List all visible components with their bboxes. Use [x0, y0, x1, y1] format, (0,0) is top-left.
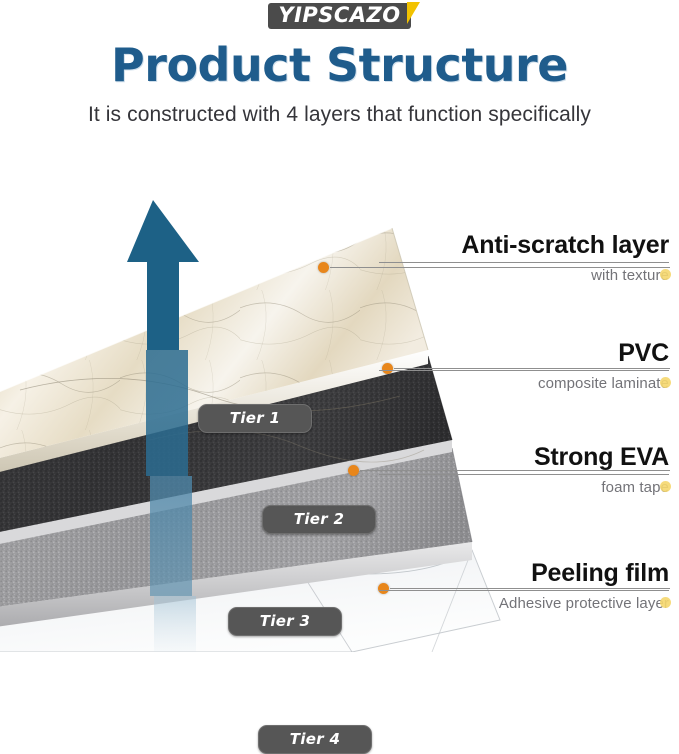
layer-title-4: Peeling film [379, 560, 669, 589]
layer-divider-1 [379, 262, 669, 263]
tier-badge-2[interactable]: Tier 2 [262, 505, 376, 534]
page-subtitle: It is constructed with 4 layers that fun… [0, 103, 679, 127]
layer-title-3: Strong EVA [379, 444, 669, 473]
tier-badge-1[interactable]: Tier 1 [198, 404, 312, 433]
layer-subtitle-3: foam tape [601, 479, 669, 496]
layer-divider-4 [379, 590, 669, 591]
logo-text: YIPSCAZO [278, 5, 400, 26]
layer-label-2: PVC composite laminate [379, 340, 669, 393]
connector-dot-3 [348, 465, 359, 476]
brand-logo: YIPSCAZO [0, 3, 679, 29]
layer-subtitle-2: composite laminate [538, 375, 669, 392]
header: YIPSCAZO Product Structure It is constru… [0, 0, 679, 140]
connector-dot-1 [318, 262, 329, 273]
logo-dot-icon [409, 4, 416, 11]
layer-title-2: PVC [379, 340, 669, 369]
layer-title-1: Anti-scratch layer [379, 232, 669, 261]
tier-badge-4[interactable]: Tier 4 [258, 725, 372, 754]
page-title: Product Structure [0, 38, 679, 92]
layer-label-3: Strong EVA foam tape [379, 444, 669, 497]
layer-label-4: Peeling film Adhesive protective layer [379, 560, 669, 613]
tier-badge-3[interactable]: Tier 3 [228, 607, 342, 636]
layer-divider-2 [379, 370, 669, 371]
logo-plate: YIPSCAZO [268, 3, 410, 29]
layer-subtitle-4: Adhesive protective layer [499, 595, 669, 612]
layer-divider-3 [379, 474, 669, 475]
layer-subtitle-1: with texture [591, 267, 669, 284]
layer-label-1: Anti-scratch layer with texture [379, 232, 669, 285]
